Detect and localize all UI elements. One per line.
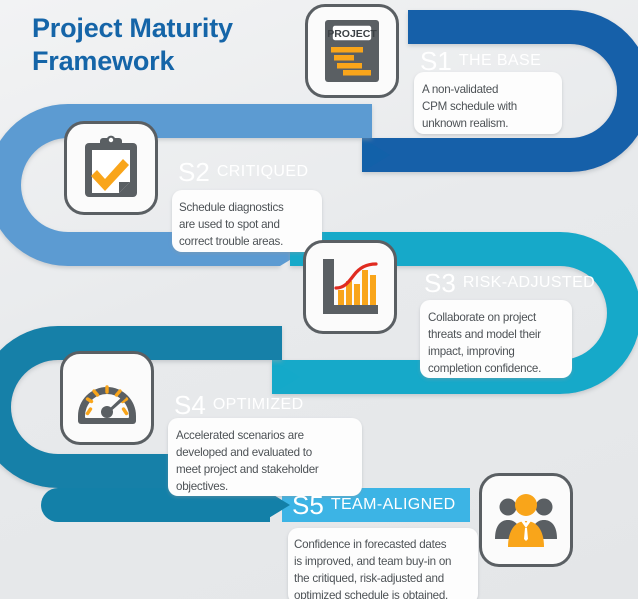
desc-line: Confidence in forecasted dates: [294, 536, 486, 553]
stage-description-s2: Schedule diagnostics are used to spot an…: [179, 199, 329, 250]
team-people-icon: [493, 491, 559, 549]
stage-icon-tile-s1[interactable]: PROJECT: [305, 4, 399, 98]
desc-line: is improved, and team buy-in on: [294, 553, 486, 570]
page-title: Project Maturity Framework: [32, 12, 332, 78]
desc-line: the critiqued, risk-adjusted and: [294, 570, 486, 587]
stage-description-s5: Confidence in forecasted dates is improv…: [294, 536, 486, 599]
desc-line: Schedule diagnostics: [179, 199, 329, 216]
desc-line: unknown realism.: [422, 115, 562, 132]
desc-line: meet project and stakeholder: [176, 461, 372, 478]
desc-line: completion confidence.: [428, 360, 580, 377]
desc-line: threats and model their: [428, 326, 580, 343]
clipboard-check-icon: [80, 135, 142, 201]
speedometer-icon: [74, 370, 140, 426]
stage-icon-tile-s2[interactable]: [64, 121, 158, 215]
stage-icon-tile-s3[interactable]: [303, 240, 397, 334]
desc-line: developed and evaluated to: [176, 444, 372, 461]
infographic-canvas: Project Maturity Framework PROJECT S1 TH…: [0, 0, 638, 599]
desc-line: CPM schedule with: [422, 98, 562, 115]
stage-icon-tile-s4[interactable]: [60, 351, 154, 445]
stage-description-s4: Accelerated scenarios are developed and …: [176, 427, 372, 496]
stage-icon-tile-s5[interactable]: [479, 473, 573, 567]
desc-line: A non-validated: [422, 81, 562, 98]
svg-text:PROJECT: PROJECT: [327, 28, 377, 40]
desc-line: optimized schedule is obtained.: [294, 587, 486, 599]
desc-line: are used to spot and: [179, 216, 329, 233]
stage-description-s3: Collaborate on project threats and model…: [428, 309, 580, 378]
desc-line: Accelerated scenarios are: [176, 427, 372, 444]
project-document-icon: PROJECT: [320, 18, 384, 84]
stage-description-s1: A non-validated CPM schedule with unknow…: [422, 81, 562, 132]
desc-line: Collaborate on project: [428, 309, 580, 326]
bar-chart-trend-icon: [318, 257, 382, 317]
desc-line: objectives.: [176, 478, 372, 495]
desc-line: impact, improving: [428, 343, 580, 360]
